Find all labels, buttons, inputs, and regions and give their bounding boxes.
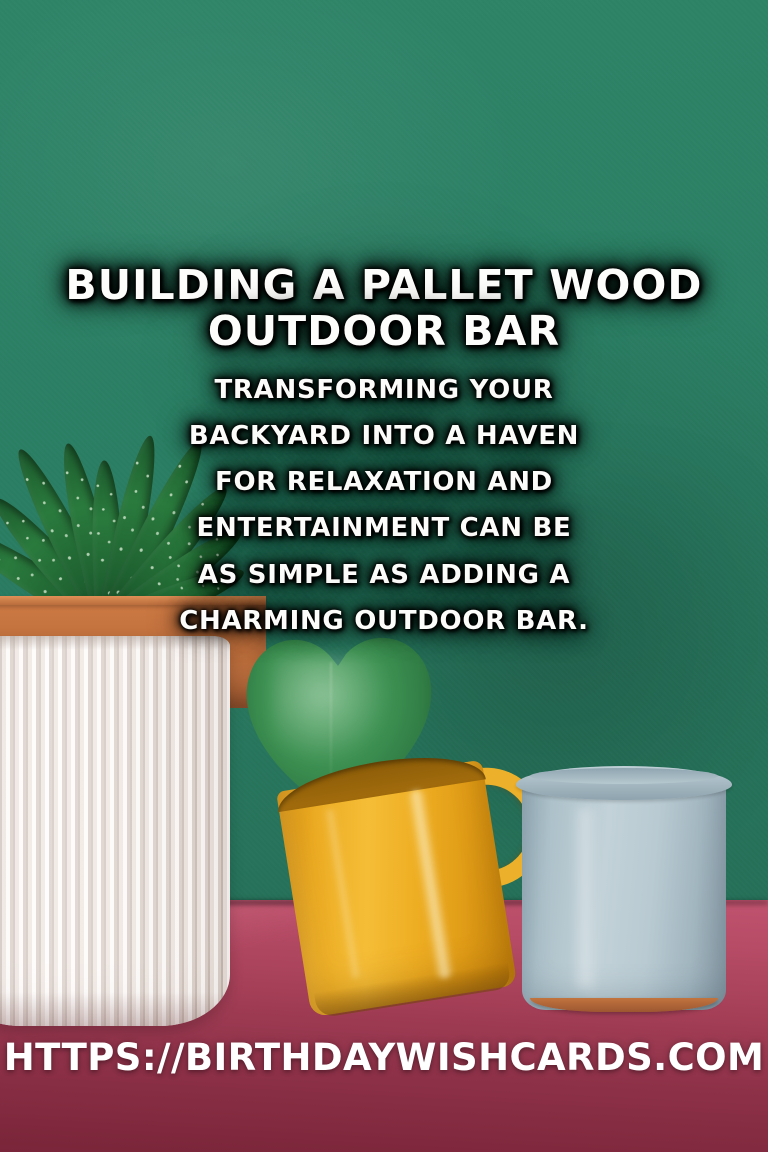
yellow-ceramic-mug [274,745,525,1024]
planter-top-shadow [0,636,230,650]
white-ribbed-ceramic-planter [0,636,230,1026]
zebra-haworthia-succulent [0,300,260,630]
planter-foot-shadow [0,992,230,1026]
blue-vessel-lip [530,768,718,784]
hoya-leaf-sheen [272,656,392,766]
blue-grey-ceramic-vessel [516,754,732,1016]
blue-vessel-body [522,780,726,1010]
planter-fluting [0,636,230,1026]
blue-vessel-highlight [572,808,598,988]
terracotta-pot-rim [0,596,266,605]
pin-graphic-canvas: Building A Pallet Wood Outdoor Bar Trans… [0,0,768,1152]
